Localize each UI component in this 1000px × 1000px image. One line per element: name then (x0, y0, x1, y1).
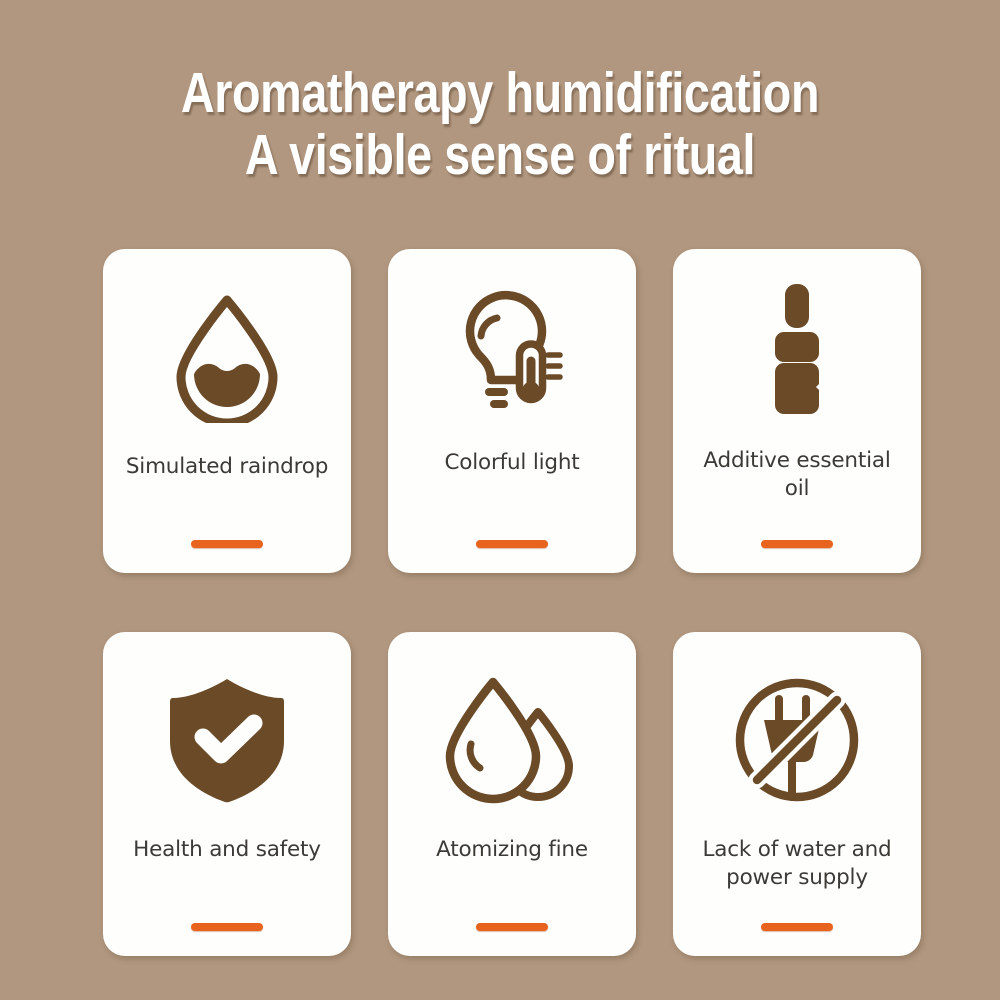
two-droplets-icon (432, 660, 592, 820)
dropper-bottle-icon (717, 271, 877, 431)
feature-card-health-and-safety[interactable]: Health and safety (103, 632, 351, 956)
accent-bar (191, 923, 263, 931)
shield-check-icon (147, 660, 307, 820)
page-title: Aromatherapy humidification A visible se… (0, 62, 1000, 186)
no-power-plug-icon (717, 660, 877, 820)
feature-label: Health and safety (122, 836, 332, 864)
title-line-1: Aromatherapy humidification (90, 62, 910, 124)
accent-bar (191, 540, 263, 548)
accent-bar (476, 923, 548, 931)
lightbulb-thermometer-icon (432, 273, 592, 433)
feature-card-colorful-light[interactable]: Colorful light (388, 249, 636, 573)
feature-card-additive-essential-oil[interactable]: Additive essential oil (673, 249, 921, 573)
feature-label: Simulated raindrop (122, 453, 332, 481)
feature-label: Colorful light (407, 449, 617, 477)
accent-bar (761, 923, 833, 931)
feature-card-simulated-raindrop[interactable]: Simulated raindrop (103, 249, 351, 573)
accent-bar (761, 540, 833, 548)
promo-feature-page: Aromatherapy humidification A visible se… (0, 0, 1000, 1000)
feature-label: Lack of water and power supply (692, 836, 902, 892)
title-line-2: A visible sense of ritual (90, 124, 910, 186)
raindrop-fill-icon (147, 277, 307, 437)
accent-bar (476, 540, 548, 548)
feature-label: Atomizing fine (407, 836, 617, 864)
feature-card-atomizing-fine[interactable]: Atomizing fine (388, 632, 636, 956)
feature-label: Additive essential oil (692, 447, 902, 503)
feature-grid: Simulated raindrop (103, 249, 921, 949)
feature-card-lack-of-water-and-power-supply[interactable]: Lack of water and power supply (673, 632, 921, 956)
